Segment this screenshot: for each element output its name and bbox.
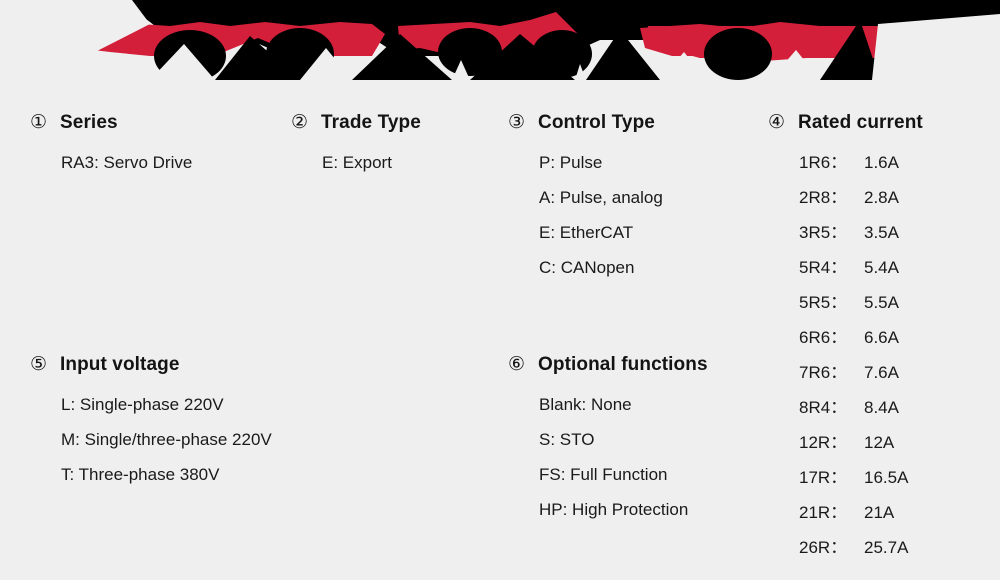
- section-header: ④ Rated current: [768, 112, 923, 134]
- current-value: 1.6A: [855, 145, 899, 180]
- banner-counter-5: [704, 28, 772, 80]
- banner-notch-gap: [936, 24, 1000, 80]
- list-item: 26R：25.7A: [799, 530, 923, 565]
- current-value: 3.5A: [855, 215, 899, 250]
- list-item: M: Single/three-phase 220V: [61, 422, 272, 457]
- circled-number-icon: ①: [30, 112, 52, 134]
- section-item-list: 1R6：1.6A 2R8：2.8A 3R5：3.5A 5R4：5.4A 5R5：…: [768, 145, 923, 565]
- list-item: RA3: Servo Drive: [61, 145, 192, 180]
- section-header: ① Series: [30, 112, 192, 134]
- list-item: 5R4：5.4A: [799, 250, 923, 285]
- section-item-list: L: Single-phase 220V M: Single/three-pha…: [30, 387, 272, 492]
- section-title: Input voltage: [60, 354, 180, 376]
- legend-section-trade-type: ② Trade Type E: Export: [291, 112, 421, 180]
- legend-section-rated-current: ④ Rated current 1R6：1.6A 2R8：2.8A 3R5：3.…: [768, 112, 923, 565]
- current-code: 8R4：: [799, 390, 855, 425]
- section-item-list: P: Pulse A: Pulse, analog E: EtherCAT C:…: [508, 145, 663, 285]
- list-item: 6R6：6.6A: [799, 320, 923, 355]
- list-item: 2R8：2.8A: [799, 180, 923, 215]
- current-value: 8.4A: [855, 390, 899, 425]
- section-item-list: Blank: None S: STO FS: Full Function HP:…: [508, 387, 708, 527]
- circled-number-icon: ③: [508, 112, 530, 134]
- current-value: 7.6A: [855, 355, 899, 390]
- current-code: 5R4：: [799, 250, 855, 285]
- legend-section-series: ① Series RA3: Servo Drive: [30, 112, 192, 180]
- current-code: 5R5：: [799, 285, 855, 320]
- current-value: 21A: [855, 495, 894, 530]
- current-value: 25.7A: [855, 530, 908, 565]
- banner-graphic: [0, 0, 1000, 80]
- current-code: 7R6：: [799, 355, 855, 390]
- legend-section-control-type: ③ Control Type P: Pulse A: Pulse, analog…: [508, 112, 663, 285]
- list-item: 3R5：3.5A: [799, 215, 923, 250]
- current-value: 16.5A: [855, 460, 908, 495]
- section-item-list: RA3: Servo Drive: [30, 145, 192, 180]
- current-value: 5.5A: [855, 285, 899, 320]
- section-header: ⑥ Optional functions: [508, 354, 708, 376]
- model-naming-legend: ① Series RA3: Servo Drive ② Trade Type E…: [0, 80, 1000, 580]
- list-item: L: Single-phase 220V: [61, 387, 272, 422]
- current-value: 6.6A: [855, 320, 899, 355]
- current-code: 26R：: [799, 530, 855, 565]
- list-item: 17R：16.5A: [799, 460, 923, 495]
- current-code: 6R6：: [799, 320, 855, 355]
- section-title: Control Type: [538, 112, 655, 134]
- current-code: 17R：: [799, 460, 855, 495]
- section-header: ③ Control Type: [508, 112, 663, 134]
- current-code: 3R5：: [799, 215, 855, 250]
- section-title: Optional functions: [538, 354, 708, 376]
- section-header: ⑤ Input voltage: [30, 354, 272, 376]
- current-value: 12A: [855, 425, 894, 460]
- circled-number-icon: ⑤: [30, 354, 52, 376]
- legend-section-input-voltage: ⑤ Input voltage L: Single-phase 220V M: …: [30, 354, 272, 492]
- circled-number-icon: ④: [768, 112, 790, 134]
- current-code: 21R：: [799, 495, 855, 530]
- list-item: HP: High Protection: [539, 492, 708, 527]
- list-item: E: Export: [322, 145, 421, 180]
- current-code: 1R6：: [799, 145, 855, 180]
- list-item: 12R：12A: [799, 425, 923, 460]
- list-item: C: CANopen: [539, 250, 663, 285]
- legend-section-optional-functions: ⑥ Optional functions Blank: None S: STO …: [508, 354, 708, 527]
- list-item: 8R4：8.4A: [799, 390, 923, 425]
- list-item: 21R：21A: [799, 495, 923, 530]
- section-item-list: E: Export: [291, 145, 421, 180]
- list-item: 7R6：7.6A: [799, 355, 923, 390]
- section-title: Trade Type: [321, 112, 421, 134]
- list-item: Blank: None: [539, 387, 708, 422]
- list-item: S: STO: [539, 422, 708, 457]
- section-header: ② Trade Type: [291, 112, 421, 134]
- current-value: 5.4A: [855, 250, 899, 285]
- section-title: Series: [60, 112, 118, 134]
- current-code: 12R：: [799, 425, 855, 460]
- list-item: A: Pulse, analog: [539, 180, 663, 215]
- current-code: 2R8：: [799, 180, 855, 215]
- circled-number-icon: ⑥: [508, 354, 530, 376]
- circled-number-icon: ②: [291, 112, 313, 134]
- list-item: 1R6：1.6A: [799, 145, 923, 180]
- list-item: P: Pulse: [539, 145, 663, 180]
- list-item: 5R5：5.5A: [799, 285, 923, 320]
- list-item: E: EtherCAT: [539, 215, 663, 250]
- current-value: 2.8A: [855, 180, 899, 215]
- list-item: FS: Full Function: [539, 457, 708, 492]
- section-title: Rated current: [798, 112, 923, 134]
- list-item: T: Three-phase 380V: [61, 457, 272, 492]
